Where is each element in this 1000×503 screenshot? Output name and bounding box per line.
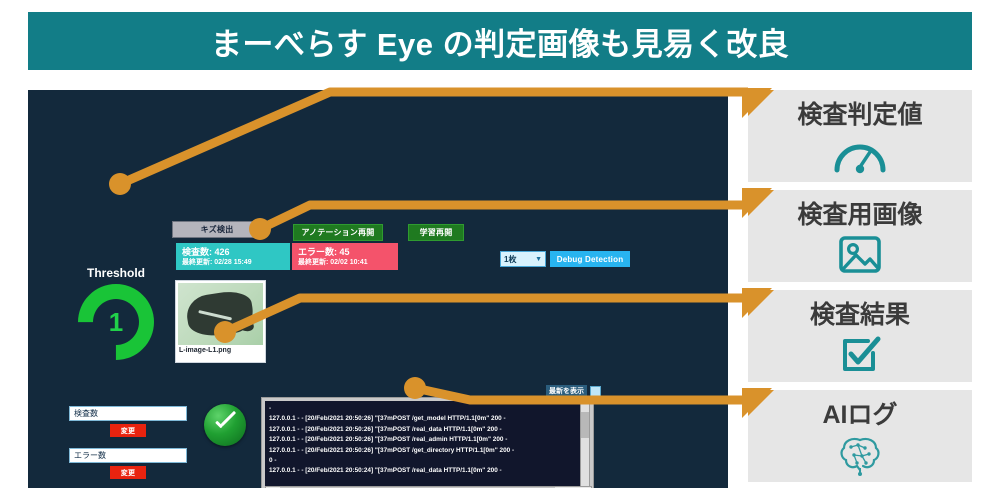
page-title: まーべらす Eye の判定画像も見易く改良 (211, 19, 789, 64)
slide: まーべらす Eye の判定画像も見易く改良 Threshold 1 キズ検出 ア… (0, 0, 1000, 503)
checkbox-icon (748, 334, 972, 376)
inspection-count-value: 検査数: 426 (182, 246, 284, 258)
inspection-ok-check-icon (204, 404, 246, 446)
image-icon (748, 234, 972, 276)
inspection-image (178, 283, 263, 345)
inspection-count-updated: 最終更新: 02/28 15:49 (182, 258, 284, 267)
log-line: 0 - (269, 456, 586, 466)
part-shape (184, 288, 256, 340)
inspect-count-input[interactable]: 検査数 (69, 406, 187, 421)
log-vertical-scroll-thumb[interactable] (581, 412, 589, 438)
log-text-area[interactable]: - 127.0.0.1 - - [20/Feb/2021 20:50:26] "… (265, 401, 590, 487)
error-count-updated: 最終更新: 02/02 10:41 (298, 258, 392, 267)
log-line: 127.0.0.1 - - [20/Feb/2021 20:50:24] "[3… (269, 466, 586, 476)
log-line: 127.0.0.1 - - [20/Feb/2021 20:50:26] "[3… (269, 446, 586, 456)
show-latest-row[interactable]: 最新を表示 (546, 385, 601, 397)
show-latest-checkbox[interactable] (590, 386, 601, 397)
callout-title: 検査用画像 (748, 195, 972, 231)
app-screenshot-panel: Threshold 1 キズ検出 アノテーション再開 学習再開 検査数: 426… (28, 90, 728, 488)
log-line: 127.0.0.1 - - [20/Feb/2021 20:50:26] "[3… (269, 414, 586, 424)
ai-log-panel: - 127.0.0.1 - - [20/Feb/2021 20:50:26] "… (261, 397, 594, 488)
callout-title: 検査結果 (748, 295, 972, 331)
log-line: - (269, 404, 586, 414)
image-count-select-value: 1枚 (504, 254, 516, 265)
threshold-gauge: Threshold 1 (70, 268, 162, 368)
brain-icon (748, 434, 972, 476)
callout-title: 検査判定値 (748, 95, 972, 131)
chevron-down-icon: ▼ (535, 256, 542, 263)
image-count-select[interactable]: 1枚 ▼ (500, 251, 546, 267)
log-horizontal-scrollbar[interactable] (265, 486, 592, 488)
error-count-input[interactable]: エラー数 (69, 448, 187, 463)
inspection-image-card[interactable]: L-image-L1.png (175, 280, 266, 363)
error-count-value: エラー数: 45 (298, 246, 392, 258)
kizu-detect-button[interactable]: キズ検出 (172, 221, 262, 238)
annotation-restart-button[interactable]: アノテーション再開 (293, 224, 383, 241)
log-vertical-scrollbar[interactable] (580, 401, 590, 487)
callout-card-inspection-result: 検査結果 (748, 290, 972, 382)
debug-detection-button[interactable]: Debug Detection (550, 251, 630, 267)
callout-card-inspection-value: 検査判定値 (748, 90, 972, 182)
log-line: 127.0.0.1 - - [20/Feb/2021 20:50:26] "[3… (269, 435, 586, 445)
show-latest-label: 最新を表示 (546, 385, 587, 397)
inspection-image-caption: L-image-L1.png (178, 345, 263, 354)
inspect-count-change-button[interactable]: 変更 (110, 424, 146, 437)
threshold-value: 1 (78, 284, 154, 360)
threshold-label: Threshold (70, 266, 162, 280)
callout-title: AIログ (748, 395, 972, 431)
error-count-badge: エラー数: 45 最終更新: 02/02 10:41 (292, 243, 398, 270)
title-banner: まーべらす Eye の判定画像も見易く改良 (28, 12, 972, 70)
inspection-count-badge: 検査数: 426 最終更新: 02/28 15:49 (176, 243, 290, 270)
callout-card-inspection-image: 検査用画像 (748, 190, 972, 282)
log-horizontal-scroll-thumb[interactable] (280, 487, 555, 488)
callout-card-ai-log: AIログ (748, 390, 972, 482)
log-line: 127.0.0.1 - - [20/Feb/2021 20:50:26] "[3… (269, 425, 586, 435)
error-count-change-button[interactable]: 変更 (110, 466, 146, 479)
gauge-icon (748, 134, 972, 176)
training-restart-button[interactable]: 学習再開 (408, 224, 464, 241)
